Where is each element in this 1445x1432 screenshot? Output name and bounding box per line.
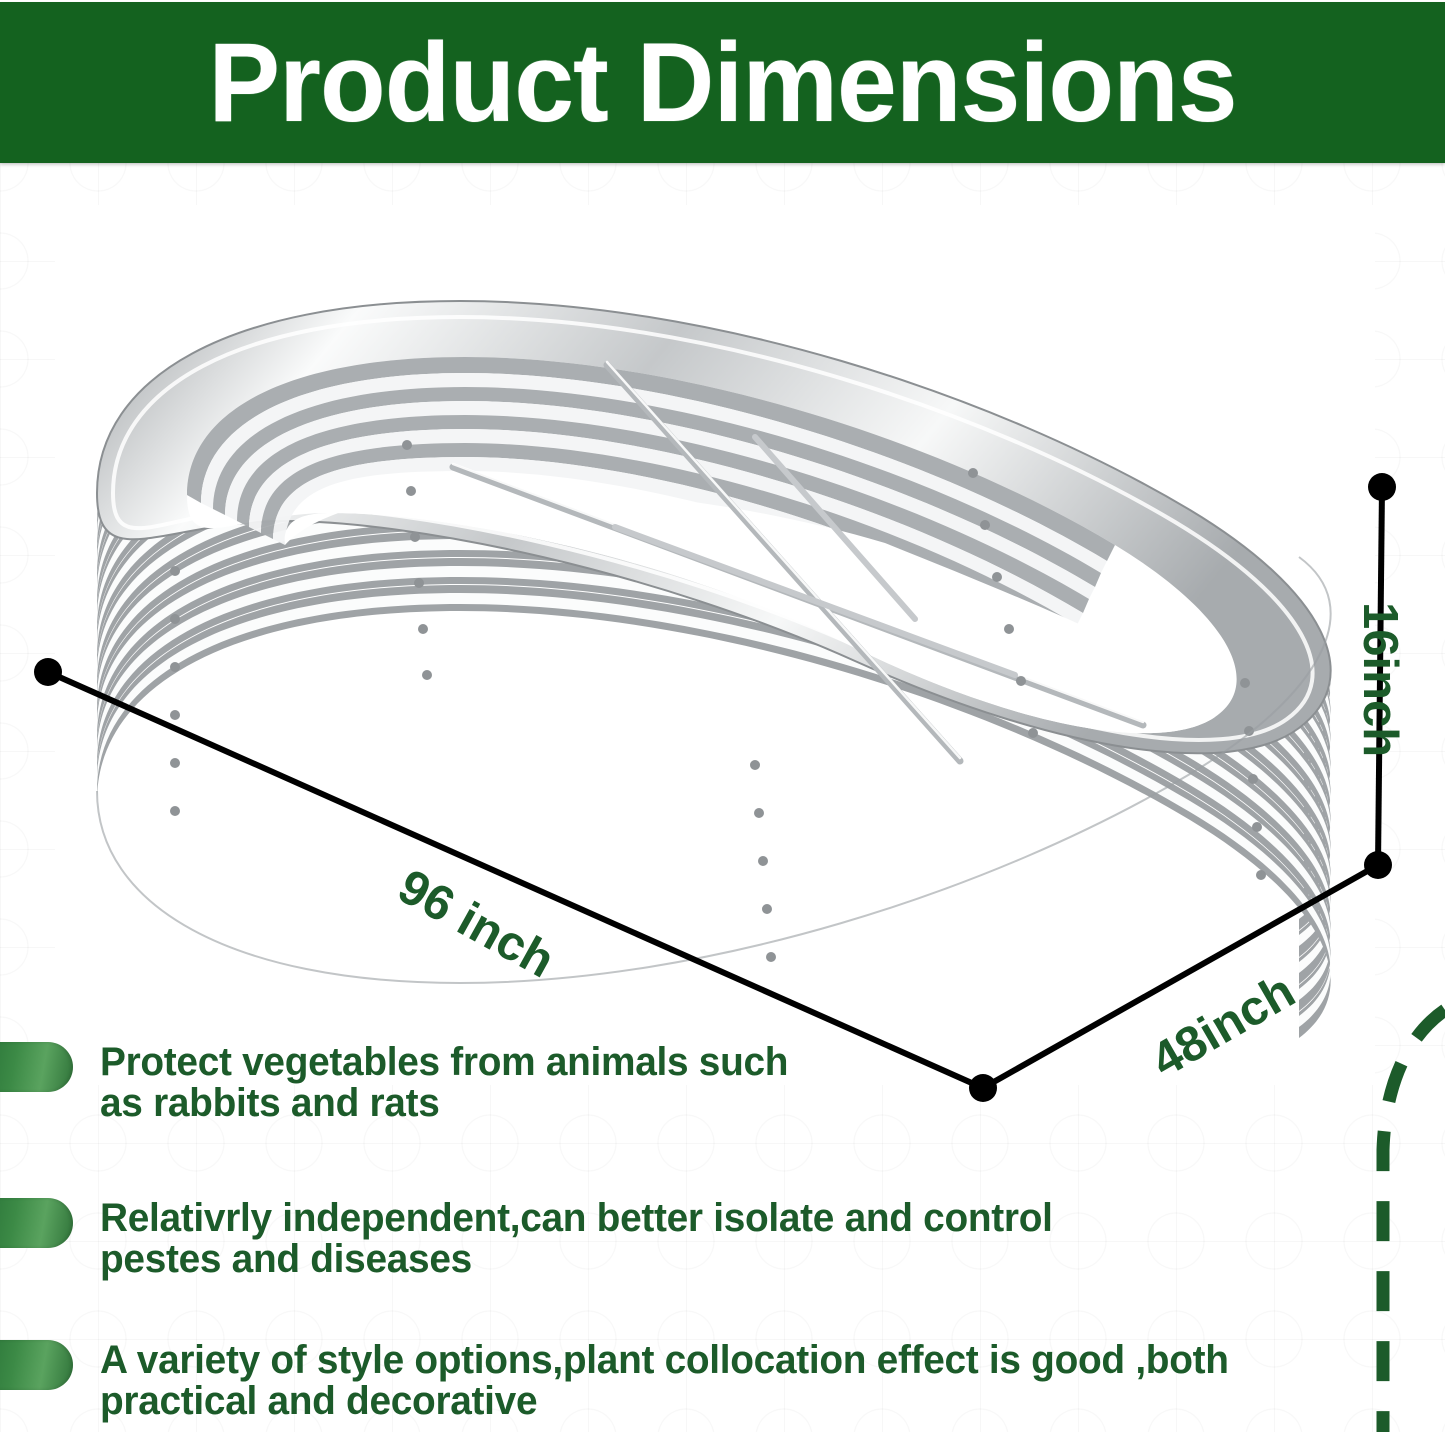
feature-item-2: Relativrly independent,can better isolat…	[0, 1198, 1082, 1280]
dimension-vertex-right	[1364, 851, 1392, 879]
product-illustration	[55, 205, 1375, 1085]
feature-text-1: Protect vegetables from animals such as …	[100, 1042, 788, 1124]
dimension-endpoint-length	[34, 658, 62, 686]
dimension-label-width: 48inch	[1144, 966, 1303, 1086]
dimension-label-length: 96 inch	[390, 862, 561, 987]
dimension-endpoint-height-top	[1368, 473, 1396, 501]
dimension-vertex-bottom	[969, 1074, 997, 1102]
feature-text-3: A variety of style options,plant colloca…	[100, 1340, 1229, 1422]
feature-item-1: Protect vegetables from animals such as …	[0, 1042, 809, 1124]
bullet-pill-icon	[0, 1198, 73, 1248]
infographic-canvas: Product Dimensions	[0, 0, 1445, 1432]
bullet-pill-icon	[0, 1340, 73, 1390]
decorative-dashed-arc	[1355, 990, 1445, 1432]
dimension-line-width	[983, 865, 1378, 1088]
bullet-pill-icon	[0, 1042, 73, 1092]
header-banner: Product Dimensions	[0, 2, 1445, 163]
feature-item-3: A variety of style options,plant colloca…	[0, 1340, 1264, 1422]
page-title: Product Dimensions	[208, 27, 1236, 139]
dimension-line-length	[48, 672, 983, 1088]
dimension-label-height: 16inch	[1355, 602, 1404, 757]
dimension-line-height	[1378, 487, 1382, 865]
feature-text-2: Relativrly independent,can better isolat…	[100, 1198, 1053, 1280]
